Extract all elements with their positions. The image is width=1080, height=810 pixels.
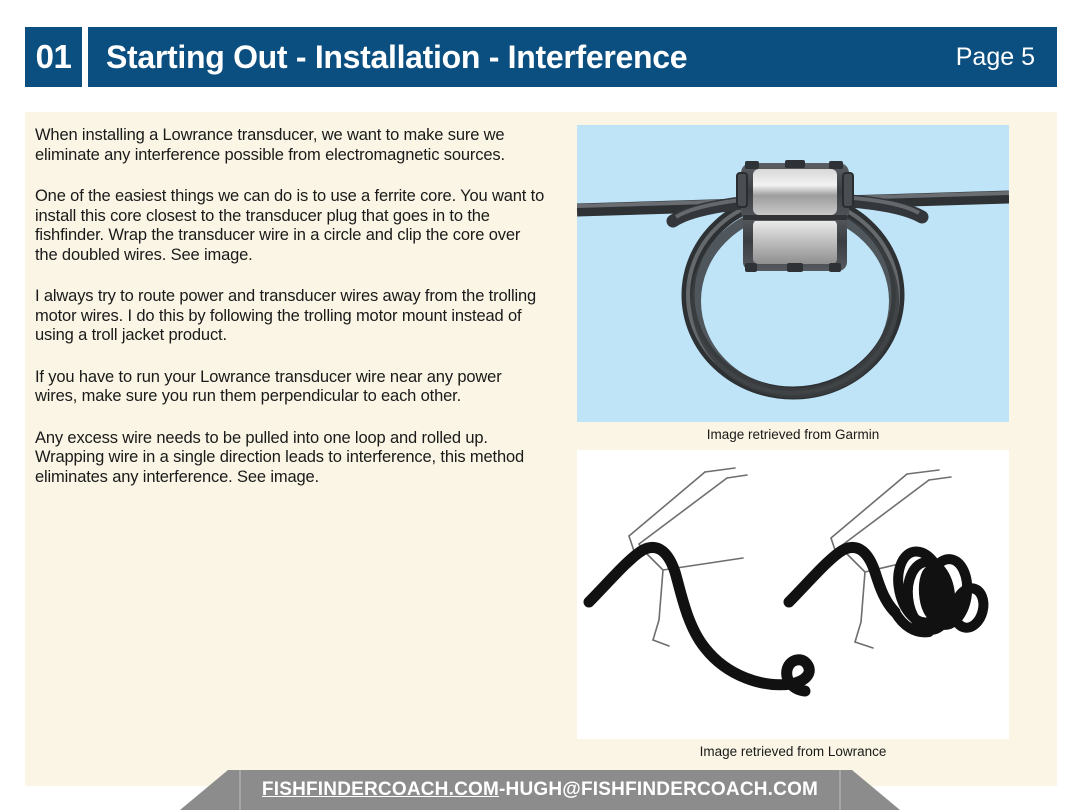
body-paragraph-3: I always try to route power and transduc… xyxy=(35,287,547,346)
figure-1-caption: Image retrieved from Garmin xyxy=(577,427,1009,442)
body-paragraph-2: One of the easiest things we can do is t… xyxy=(35,187,547,265)
footer-ribbon-shape xyxy=(0,770,1080,810)
ferrite-core-upper-half xyxy=(737,160,853,221)
body-paragraph-1: When installing a Lowrance transducer, w… xyxy=(35,126,547,165)
body-text-column: When installing a Lowrance transducer, w… xyxy=(35,126,547,509)
figure-ferrite-core: Image retrieved from Garmin xyxy=(577,125,1009,442)
header-title-bar: Starting Out - Installation - Interferen… xyxy=(88,27,1057,87)
page-title: Starting Out - Installation - Interferen… xyxy=(106,39,687,76)
slide-header: 01 Starting Out - Installation - Interfe… xyxy=(25,27,1057,87)
ferrite-core-image xyxy=(577,125,1009,422)
figure-column: Image retrieved from Garmin xyxy=(577,125,1009,759)
wire-coiling-illustration xyxy=(577,450,1009,739)
page-number-label: Page 5 xyxy=(956,43,1035,72)
ferrite-core-illustration xyxy=(577,125,1009,422)
figure-2-caption: Image retrieved from Lowrance xyxy=(577,744,1009,759)
content-panel: When installing a Lowrance transducer, w… xyxy=(25,112,1057,786)
body-paragraph-5: Any excess wire needs to be pulled into … xyxy=(35,429,547,488)
section-number: 01 xyxy=(36,38,72,76)
wire-coiling-image xyxy=(577,450,1009,739)
figure-wire-coiling: Image retrieved from Lowrance xyxy=(577,450,1009,759)
footer: FISHFINDERCOACH.COM - HUGH@FISHFINDERCOA… xyxy=(0,770,1080,810)
section-number-badge: 01 xyxy=(25,27,82,87)
body-paragraph-4: If you have to run your Lowrance transdu… xyxy=(35,368,547,407)
